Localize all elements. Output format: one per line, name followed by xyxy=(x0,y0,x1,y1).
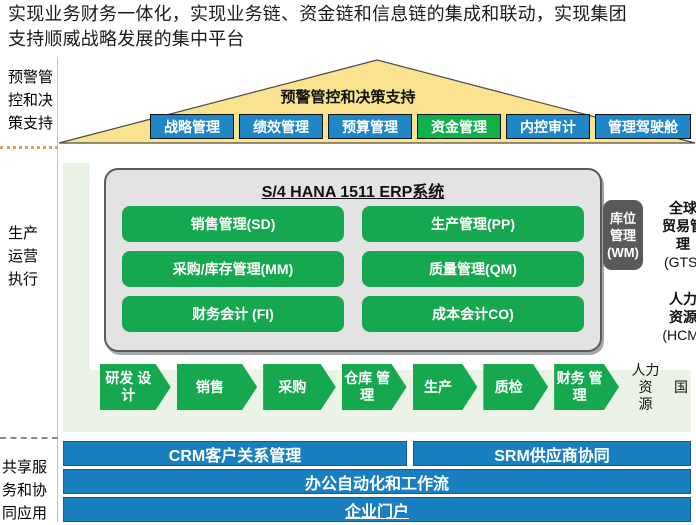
bar-enterprise-portal[interactable]: 企业门户 xyxy=(63,497,691,522)
bar-srm[interactable]: SRM供应商协同 xyxy=(413,441,691,466)
module-hcm-name: 人力 资源 xyxy=(669,290,696,326)
button-strategy[interactable]: 战略管理 xyxy=(150,114,234,139)
module-pp[interactable]: 生产管理(PP) xyxy=(362,206,584,242)
module-gts-code: (GTS) xyxy=(664,253,696,271)
module-mm[interactable]: 采购/库存管理(MM) xyxy=(122,251,344,287)
module-co[interactable]: 成本会计CO) xyxy=(362,296,584,332)
module-wm[interactable]: 库位 管理 (WM) xyxy=(603,200,643,270)
flow-step-quality[interactable]: 质检 xyxy=(483,364,548,410)
flow-label-intl: 国 xyxy=(674,364,688,410)
decision-support-buttons: 战略管理 绩效管理 预算管理 资金管理 内控审计 管理驾驶舱 xyxy=(150,114,691,139)
erp-module-grid: 销售管理(SD) 生产管理(PP) 采购/库存管理(MM) 质量管理(QM) 财… xyxy=(122,206,584,332)
button-management-cockpit[interactable]: 管理驾驶舱 xyxy=(595,114,691,139)
flow-step-finance[interactable]: 财务 管理 xyxy=(554,364,619,410)
tier-divider-bottom xyxy=(0,437,58,439)
button-budget[interactable]: 预算管理 xyxy=(328,114,412,139)
bar-crm[interactable]: CRM客户关系管理 xyxy=(63,441,407,466)
module-qm[interactable]: 质量管理(QM) xyxy=(362,251,584,287)
module-fi[interactable]: 财务会计 (FI) xyxy=(122,296,344,332)
module-hcm-code: (HCM) xyxy=(662,326,696,344)
tier-divider-top xyxy=(0,146,58,149)
button-treasury[interactable]: 资金管理 xyxy=(417,114,501,139)
erp-title: S/4 HANA 1511 ERP系统 xyxy=(106,178,600,202)
pyramid-title: 预警管控和决策支持 xyxy=(0,86,696,107)
flow-step-production[interactable]: 生产 xyxy=(413,364,478,410)
process-flow: 研发 设计 销售 采购 仓库 管理 生产 质检 财务 管理 人力资 源 国 xyxy=(100,363,696,411)
module-gts[interactable]: 全球 贸易管 理 (GTS) xyxy=(647,192,696,278)
module-hcm[interactable]: 人力 资源 (HCM) xyxy=(647,284,696,350)
module-sd[interactable]: 销售管理(SD) xyxy=(122,206,344,242)
page-title: 实现业务财务一体化，实现业务链、资金链和信息链的集成和联动，实现集团 支持顺威战… xyxy=(8,2,696,52)
module-gts-name: 全球 贸易管 理 xyxy=(662,199,696,253)
slide-canvas: 实现业务财务一体化，实现业务链、资金链和信息链的集成和联动，实现集团 支持顺威战… xyxy=(0,0,696,522)
bar-office-automation[interactable]: 办公自动化和工作流 xyxy=(63,469,691,494)
erp-container: S/4 HANA 1511 ERP系统 销售管理(SD) 生产管理(PP) 采购… xyxy=(104,168,602,352)
button-internal-audit[interactable]: 内控审计 xyxy=(506,114,590,139)
flow-label-hr: 人力资 源 xyxy=(625,364,666,410)
flow-step-procurement[interactable]: 采购 xyxy=(263,364,336,410)
tier-label-shared-services: 共享服 务和协 同应用 xyxy=(2,456,60,525)
button-performance[interactable]: 绩效管理 xyxy=(239,114,323,139)
flow-step-sales[interactable]: 销售 xyxy=(177,364,257,410)
tier-label-operations: 生产 运营 执行 xyxy=(8,222,66,291)
flow-step-rnd[interactable]: 研发 设计 xyxy=(100,364,171,410)
flow-step-warehouse[interactable]: 仓库 管理 xyxy=(342,364,407,410)
